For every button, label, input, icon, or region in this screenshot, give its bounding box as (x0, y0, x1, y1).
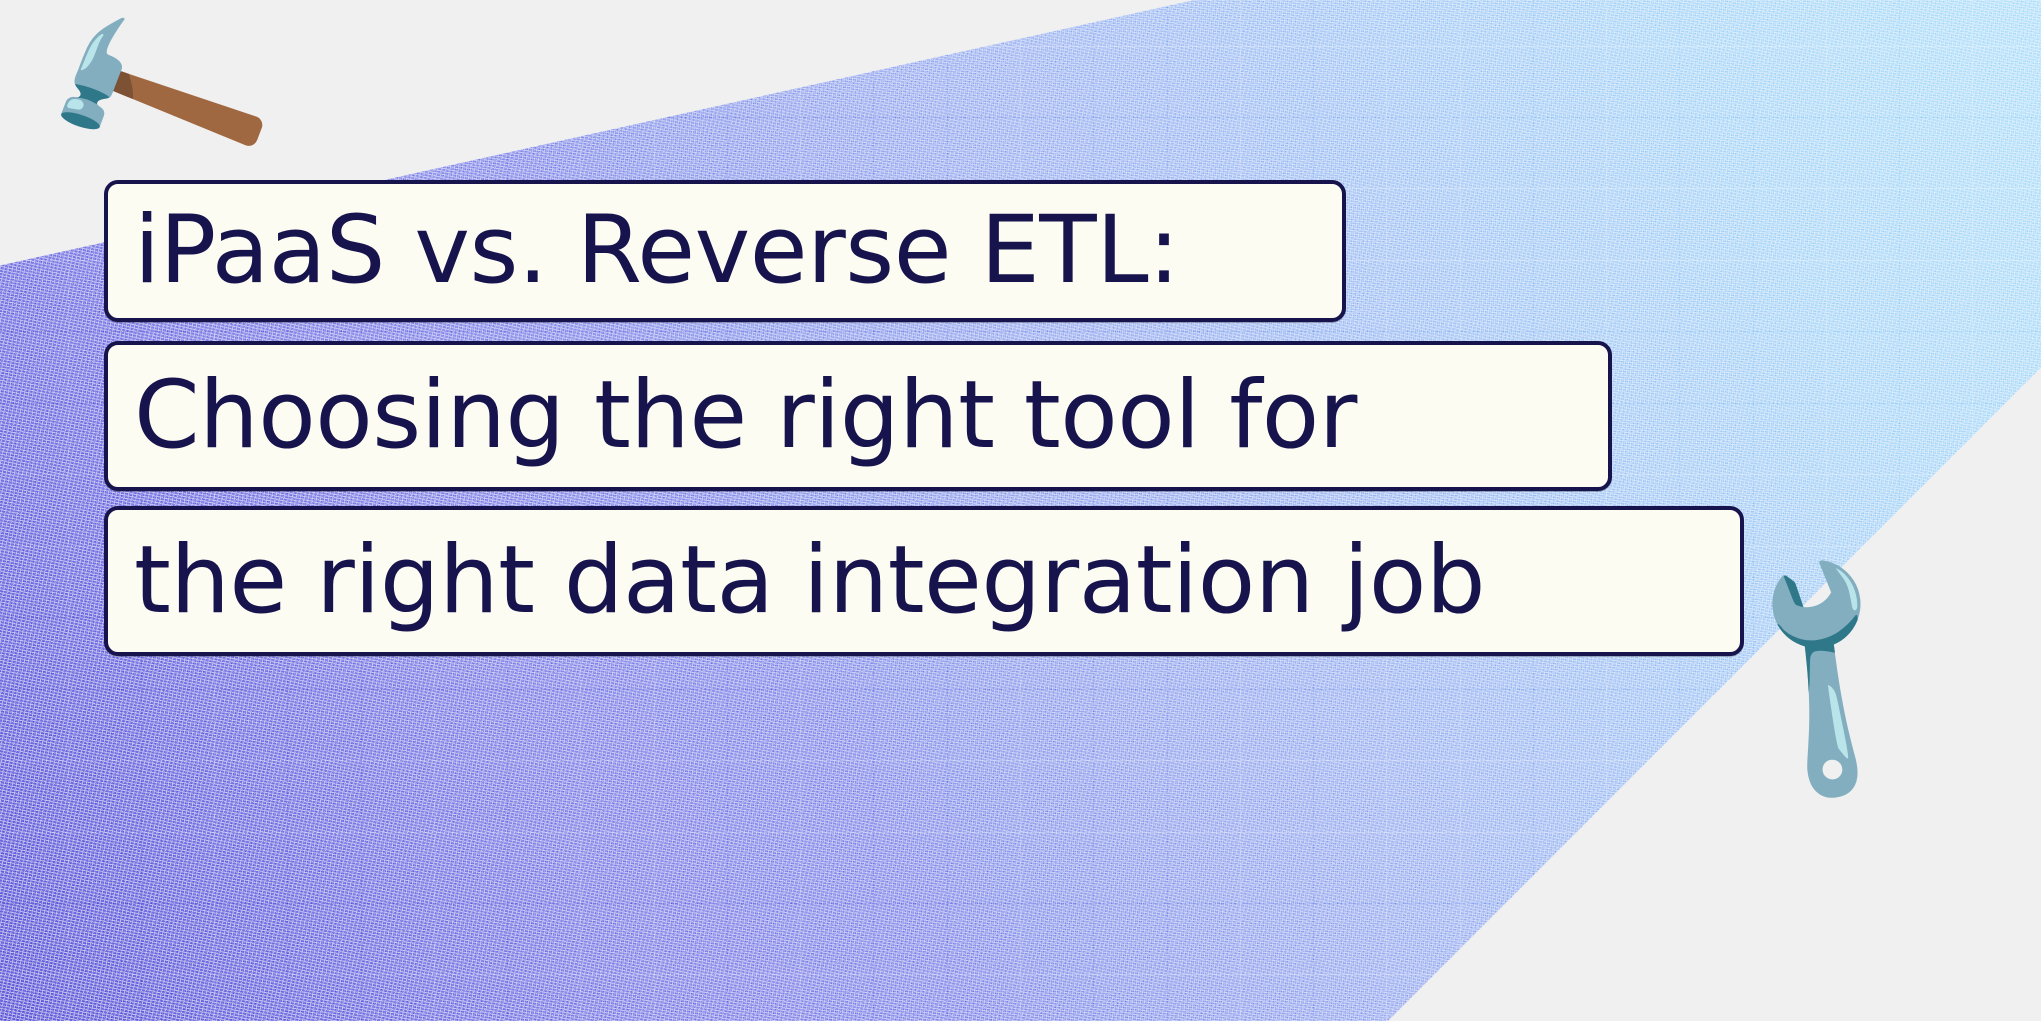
blog-hero-banner: 🔨 iPaaS vs. Reverse ETL: Choosing the ri… (0, 0, 2041, 1021)
headline-line-3: the right data integration job (108, 534, 1485, 628)
headline-box-2: Choosing the right tool for (104, 341, 1612, 491)
headline-box-3: the right data integration job (104, 506, 1744, 656)
headline-box-1: iPaaS vs. Reverse ETL: (104, 180, 1346, 322)
headline-line-2: Choosing the right tool for (108, 369, 1357, 463)
headline-line-1: iPaaS vs. Reverse ETL: (108, 204, 1179, 298)
